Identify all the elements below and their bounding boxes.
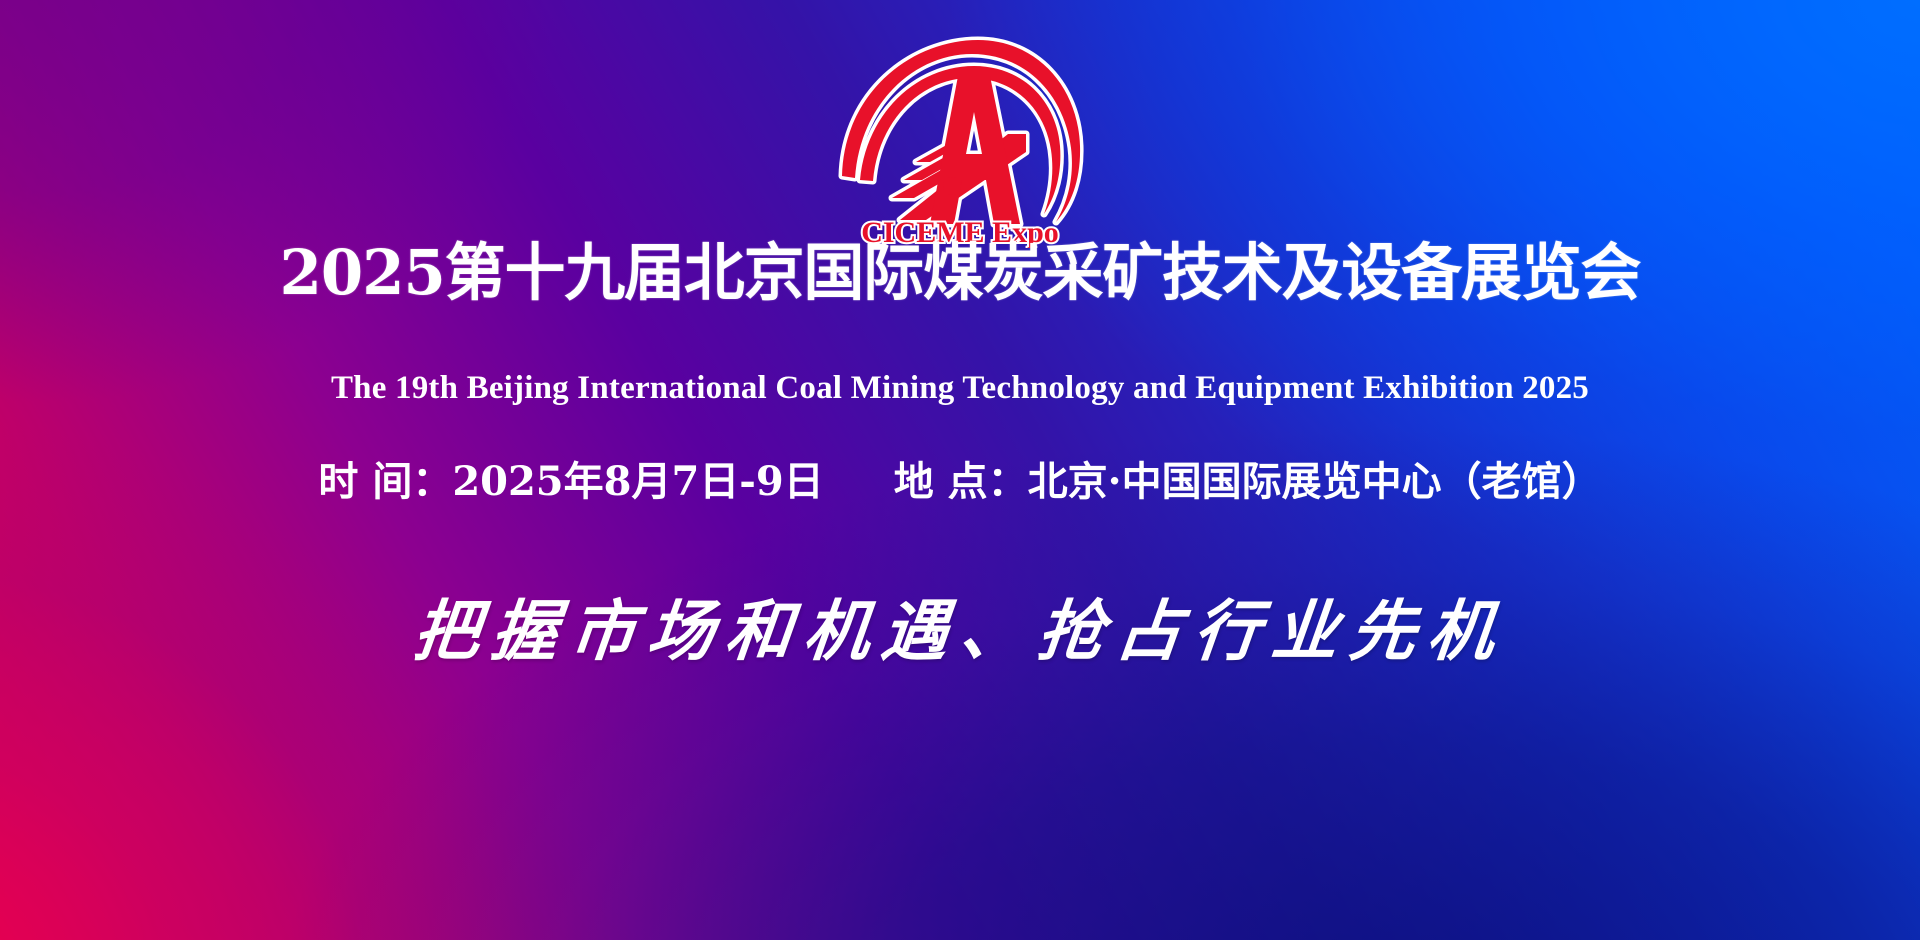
- logo-svg: CICEME Expo: [830, 28, 1090, 248]
- ciceme-expo-logo: CICEME Expo: [830, 28, 1090, 248]
- exhibition-poster: CICEME Expo 2025第十九届北京国际煤炭采矿技术及设备展览会 The…: [0, 0, 1920, 940]
- title-english: The 19th Beijing International Coal Mini…: [0, 372, 1920, 405]
- event-venue: 地 点：北京·中国国际展览中心（老馆）: [894, 462, 1602, 502]
- event-info-row: 时 间：2025年8月7日-9日 地 点：北京·中国国际展览中心（老馆）: [0, 462, 1920, 502]
- event-slogan: 把握市场和机遇、抢占行业先机: [0, 598, 1920, 664]
- poster-content: CICEME Expo 2025第十九届北京国际煤炭采矿技术及设备展览会 The…: [0, 0, 1920, 940]
- event-date: 时 间：2025年8月7日-9日: [318, 462, 823, 502]
- title-chinese: 2025第十九届北京国际煤炭采矿技术及设备展览会: [19, 242, 1901, 304]
